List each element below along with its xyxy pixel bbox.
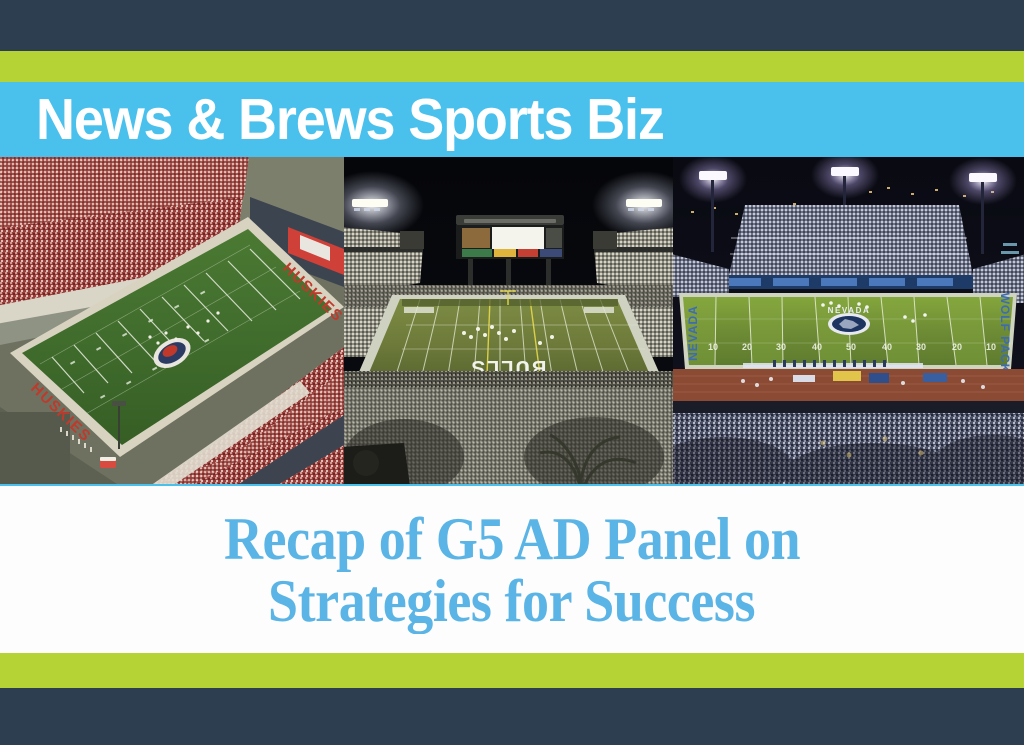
masthead-title: News & Brews Sports Biz xyxy=(36,82,664,157)
huskies-stadium-illustration: HUSKIES HUSKIES xyxy=(0,157,344,486)
headline-text: Recap of G5 AD Panel on Strategies for S… xyxy=(0,492,1024,650)
svg-text:20: 20 xyxy=(952,342,962,352)
bottom-navy-band xyxy=(0,688,1024,745)
svg-text:20: 20 xyxy=(742,342,752,352)
svg-text:10: 10 xyxy=(986,342,996,352)
photo-huskies-stadium-aerial: HUSKIES HUSKIES xyxy=(0,157,344,486)
stadium-photo-strip: HUSKIES HUSKIES xyxy=(0,157,1024,486)
svg-text:NEVADA: NEVADA xyxy=(686,305,700,361)
svg-text:40: 40 xyxy=(812,342,822,352)
top-navy-band xyxy=(0,0,1024,51)
headline-line-1: Recap of G5 AD Panel on xyxy=(224,509,800,571)
svg-text:10: 10 xyxy=(708,342,718,352)
svg-text:30: 30 xyxy=(916,342,926,352)
svg-text:40: 40 xyxy=(882,342,892,352)
wolf-pack-stadium-illustration: 10 20 30 40 50 40 30 20 10 NEVADA NEVADA xyxy=(673,157,1024,486)
photo-wolf-pack-stadium-night: 10 20 30 40 50 40 30 20 10 NEVADA NEVADA xyxy=(673,157,1024,486)
svg-text:30: 30 xyxy=(776,342,786,352)
bottom-green-band xyxy=(0,653,1024,688)
headline-line-2: Strategies for Success xyxy=(268,571,755,633)
svg-text:WOLF PACK: WOLF PACK xyxy=(998,293,1012,374)
bulls-stadium-illustration: BULLS xyxy=(344,157,673,486)
svg-text:50: 50 xyxy=(846,342,856,352)
photo-bulls-stadium-night: BULLS xyxy=(344,157,673,486)
top-green-band xyxy=(0,51,1024,82)
newsletter-poster: News & Brews Sports Biz xyxy=(0,0,1024,745)
